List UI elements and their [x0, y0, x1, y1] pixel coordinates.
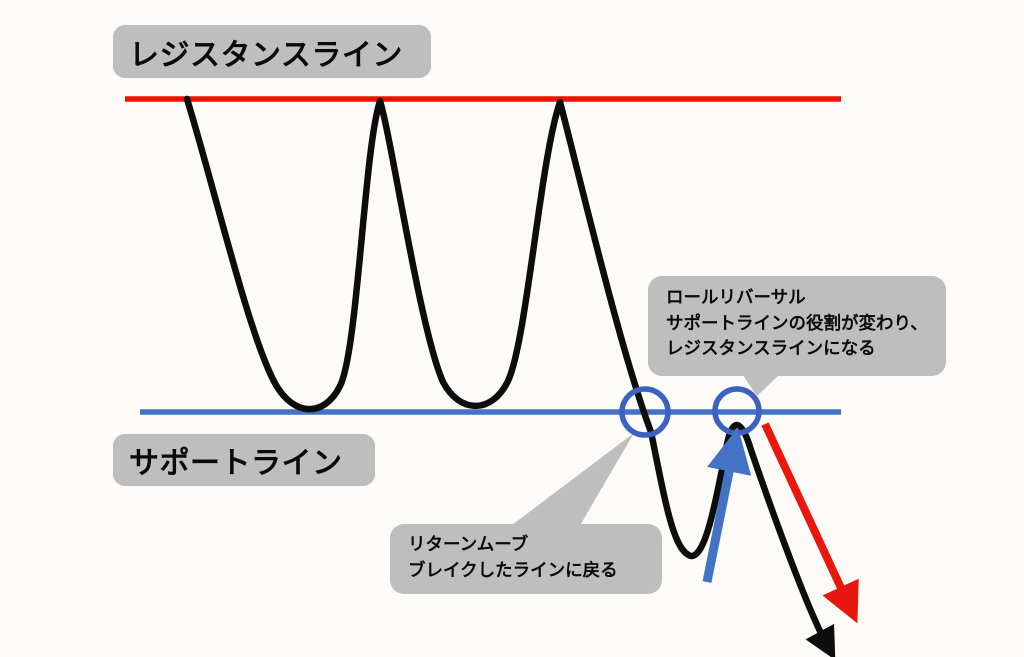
roll-reversal-line-2: サポートラインの役割が変わり、	[666, 312, 932, 338]
roll-reversal-line-3: レジスタンスラインになる	[666, 337, 932, 363]
roll-reversal-line-1: ロールリバーサル	[666, 286, 932, 312]
diagram-canvas: レジスタンスライン サポートライン ロールリバーサル サポートラインの役割が変わ…	[0, 0, 1024, 657]
support-line-label: サポートライン	[113, 434, 375, 486]
return-move-callout: リターンムーブ ブレイクしたラインに戻る	[390, 524, 662, 594]
breakdown-down-arrow	[765, 424, 848, 603]
resistance-label-text: レジスタンスライン	[129, 30, 431, 74]
roll-reversal-callout: ロールリバーサル サポートラインの役割が変わり、 レジスタンスラインになる	[648, 276, 946, 376]
return-move-callout-tail	[500, 433, 634, 534]
return-move-line-1: リターンムーブ	[408, 533, 648, 559]
resistance-line-label: レジスタンスライン	[113, 25, 431, 78]
support-label-text: サポートライン	[129, 438, 375, 482]
return-move-line-2: ブレイクしたラインに戻る	[408, 559, 648, 585]
